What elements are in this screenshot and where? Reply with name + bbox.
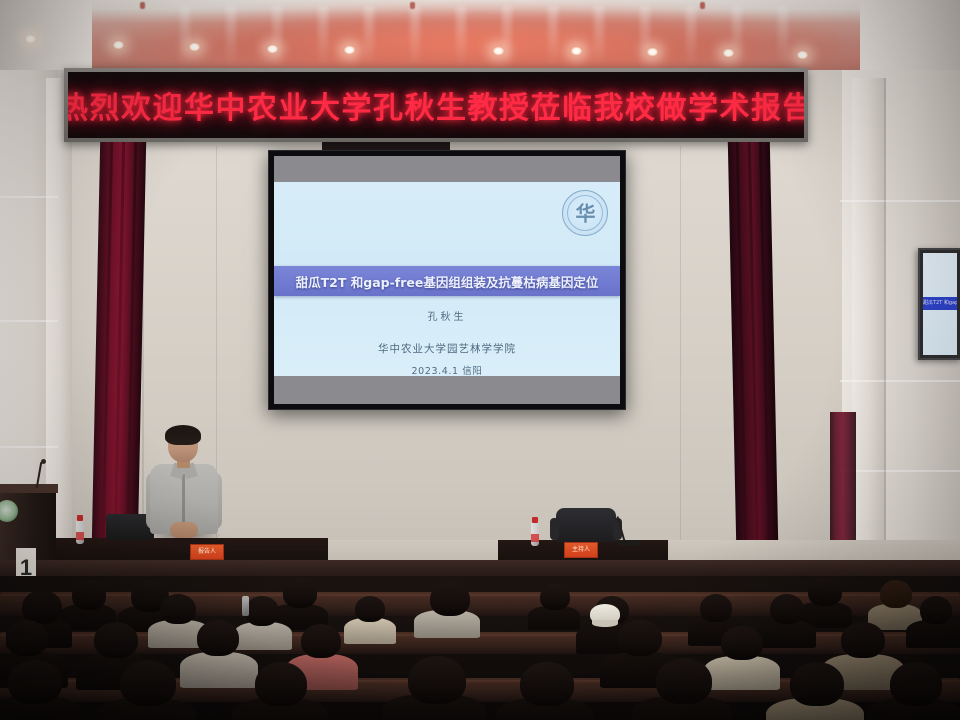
- speaker-hands: [170, 522, 198, 538]
- ceiling: [0, 0, 960, 78]
- audience-head: [355, 596, 385, 622]
- ceiling-left-soffit: [0, 0, 92, 78]
- audience-head: [408, 656, 466, 704]
- stage-curtain-left: [92, 142, 146, 542]
- water-bottle-left: [76, 520, 84, 544]
- audience-head: [880, 580, 912, 608]
- side-monitor-title-bar: 甜瓜T2T 和gap-free基因组组装: [923, 297, 957, 310]
- lectern-top: [0, 484, 58, 493]
- bench-row: [0, 634, 960, 654]
- side-monitor-screen: 甜瓜T2T 和gap-free基因组组装: [923, 253, 957, 355]
- slide-body: 孔秋生 华中农业大学园艺林学学院 2023.4.1 信阳: [274, 308, 620, 376]
- audience-head: [22, 590, 62, 624]
- audience-water-bottle: [242, 596, 249, 616]
- ceiling-downlight: [188, 42, 201, 52]
- ceiling-right-soffit: [860, 0, 960, 78]
- audience-head: [120, 660, 176, 706]
- audience-head: [920, 596, 952, 624]
- audience-member: [234, 622, 292, 650]
- slide-author: 孔秋生: [274, 308, 620, 323]
- audience-member: [704, 656, 780, 690]
- ceiling-downlight: [343, 45, 356, 55]
- side-display-monitor: 甜瓜T2T 和gap-free基因组组装: [918, 248, 960, 360]
- audience-head: [540, 584, 570, 610]
- audience-head: [841, 622, 885, 658]
- audience-head: [245, 596, 279, 626]
- ceiling-downlight: [266, 44, 279, 54]
- audience-member: [180, 652, 258, 688]
- slide-date-location: 2023.4.1 信阳: [274, 363, 620, 376]
- presenter-chair: [556, 508, 616, 542]
- ceiling-downlight: [646, 47, 659, 57]
- audience-member: [756, 620, 816, 648]
- audience-head: [430, 582, 470, 616]
- stage-curtain-far-right: [830, 412, 856, 542]
- baseball-cap-brim-icon: [592, 620, 618, 627]
- slide-title-bar: 甜瓜T2T 和gap-free基因组组装及抗蔓枯病基因定位: [274, 266, 620, 296]
- audience-head: [770, 594, 804, 624]
- lecture-hall-photo: 热烈欢迎华中农业大学孔秋生教授莅临我校做学术报告 华 甜瓜T2T 和gap-fr…: [0, 0, 960, 720]
- audience-member: [906, 620, 960, 648]
- projection-screen: 华 甜瓜T2T 和gap-free基因组组装及抗蔓枯病基因定位 孔秋生 华中农业…: [268, 150, 626, 410]
- lectern-microphone-head-icon: [41, 459, 46, 464]
- side-monitor-title: 甜瓜T2T 和gap-free基因组组装: [923, 297, 957, 310]
- audience-head: [700, 594, 732, 622]
- screen-letterbox-bottom: [274, 376, 620, 404]
- wall-pillar-right: [852, 78, 886, 548]
- audience-head: [197, 620, 239, 656]
- audience-head: [808, 578, 842, 606]
- ceiling-downlight: [492, 46, 505, 56]
- nameplate-left-text: 报告人: [191, 545, 223, 559]
- audience-head: [6, 620, 48, 656]
- presentation-slide: 华 甜瓜T2T 和gap-free基因组组装及抗蔓枯病基因定位 孔秋生 华中农业…: [274, 182, 620, 376]
- audience-head: [890, 662, 942, 706]
- audience-head: [255, 662, 307, 706]
- audience-head: [72, 580, 106, 610]
- audience-head: [618, 620, 662, 656]
- audience-head: [520, 662, 574, 706]
- university-emblem-icon: 华: [562, 190, 608, 236]
- ceiling-downlight: [722, 48, 735, 58]
- ceiling-downlight: [796, 50, 809, 60]
- nameplate-left: 报告人: [190, 544, 224, 560]
- water-bottle-right: [531, 522, 539, 546]
- screen-surface: 华 甜瓜T2T 和gap-free基因组组装及抗蔓枯病基因定位 孔秋生 华中农业…: [274, 156, 620, 404]
- audience-head: [721, 626, 763, 660]
- ceiling-downlight: [570, 46, 583, 56]
- slide-title: 甜瓜T2T 和gap-free基因组组装及抗蔓枯病基因定位: [296, 272, 599, 291]
- audience-head: [8, 660, 62, 704]
- slide-affiliation: 华中农业大学园艺林学学院: [274, 341, 620, 356]
- audience-seating-area: [0, 576, 960, 720]
- audience-head: [160, 594, 196, 624]
- wall-pillar-left: [46, 78, 72, 548]
- stage-curtain-right: [728, 142, 778, 542]
- led-panel: 热烈欢迎华中农业大学孔秋生教授莅临我校做学术报告: [68, 72, 804, 138]
- speaker-hair: [165, 425, 201, 445]
- ceiling-downlight: [24, 34, 37, 44]
- emblem-mark: 华: [576, 197, 595, 226]
- screen-letterbox-top: [274, 156, 620, 182]
- nameplate-right: 主持人: [564, 542, 598, 558]
- nameplate-right-text: 主持人: [565, 543, 597, 557]
- desk-microphone-base: [618, 540, 640, 546]
- ceiling-downlight: [112, 40, 125, 50]
- audience-head: [283, 578, 317, 608]
- audience-head: [94, 622, 138, 658]
- audience-head: [790, 662, 844, 706]
- led-welcome-banner: 热烈欢迎华中农业大学孔秋生教授莅临我校做学术报告: [64, 68, 808, 142]
- audience-head: [301, 624, 341, 658]
- audience-head: [656, 658, 712, 704]
- led-banner-text: 热烈欢迎华中农业大学孔秋生教授莅临我校做学术报告: [68, 83, 804, 127]
- speaker-person: [146, 428, 226, 548]
